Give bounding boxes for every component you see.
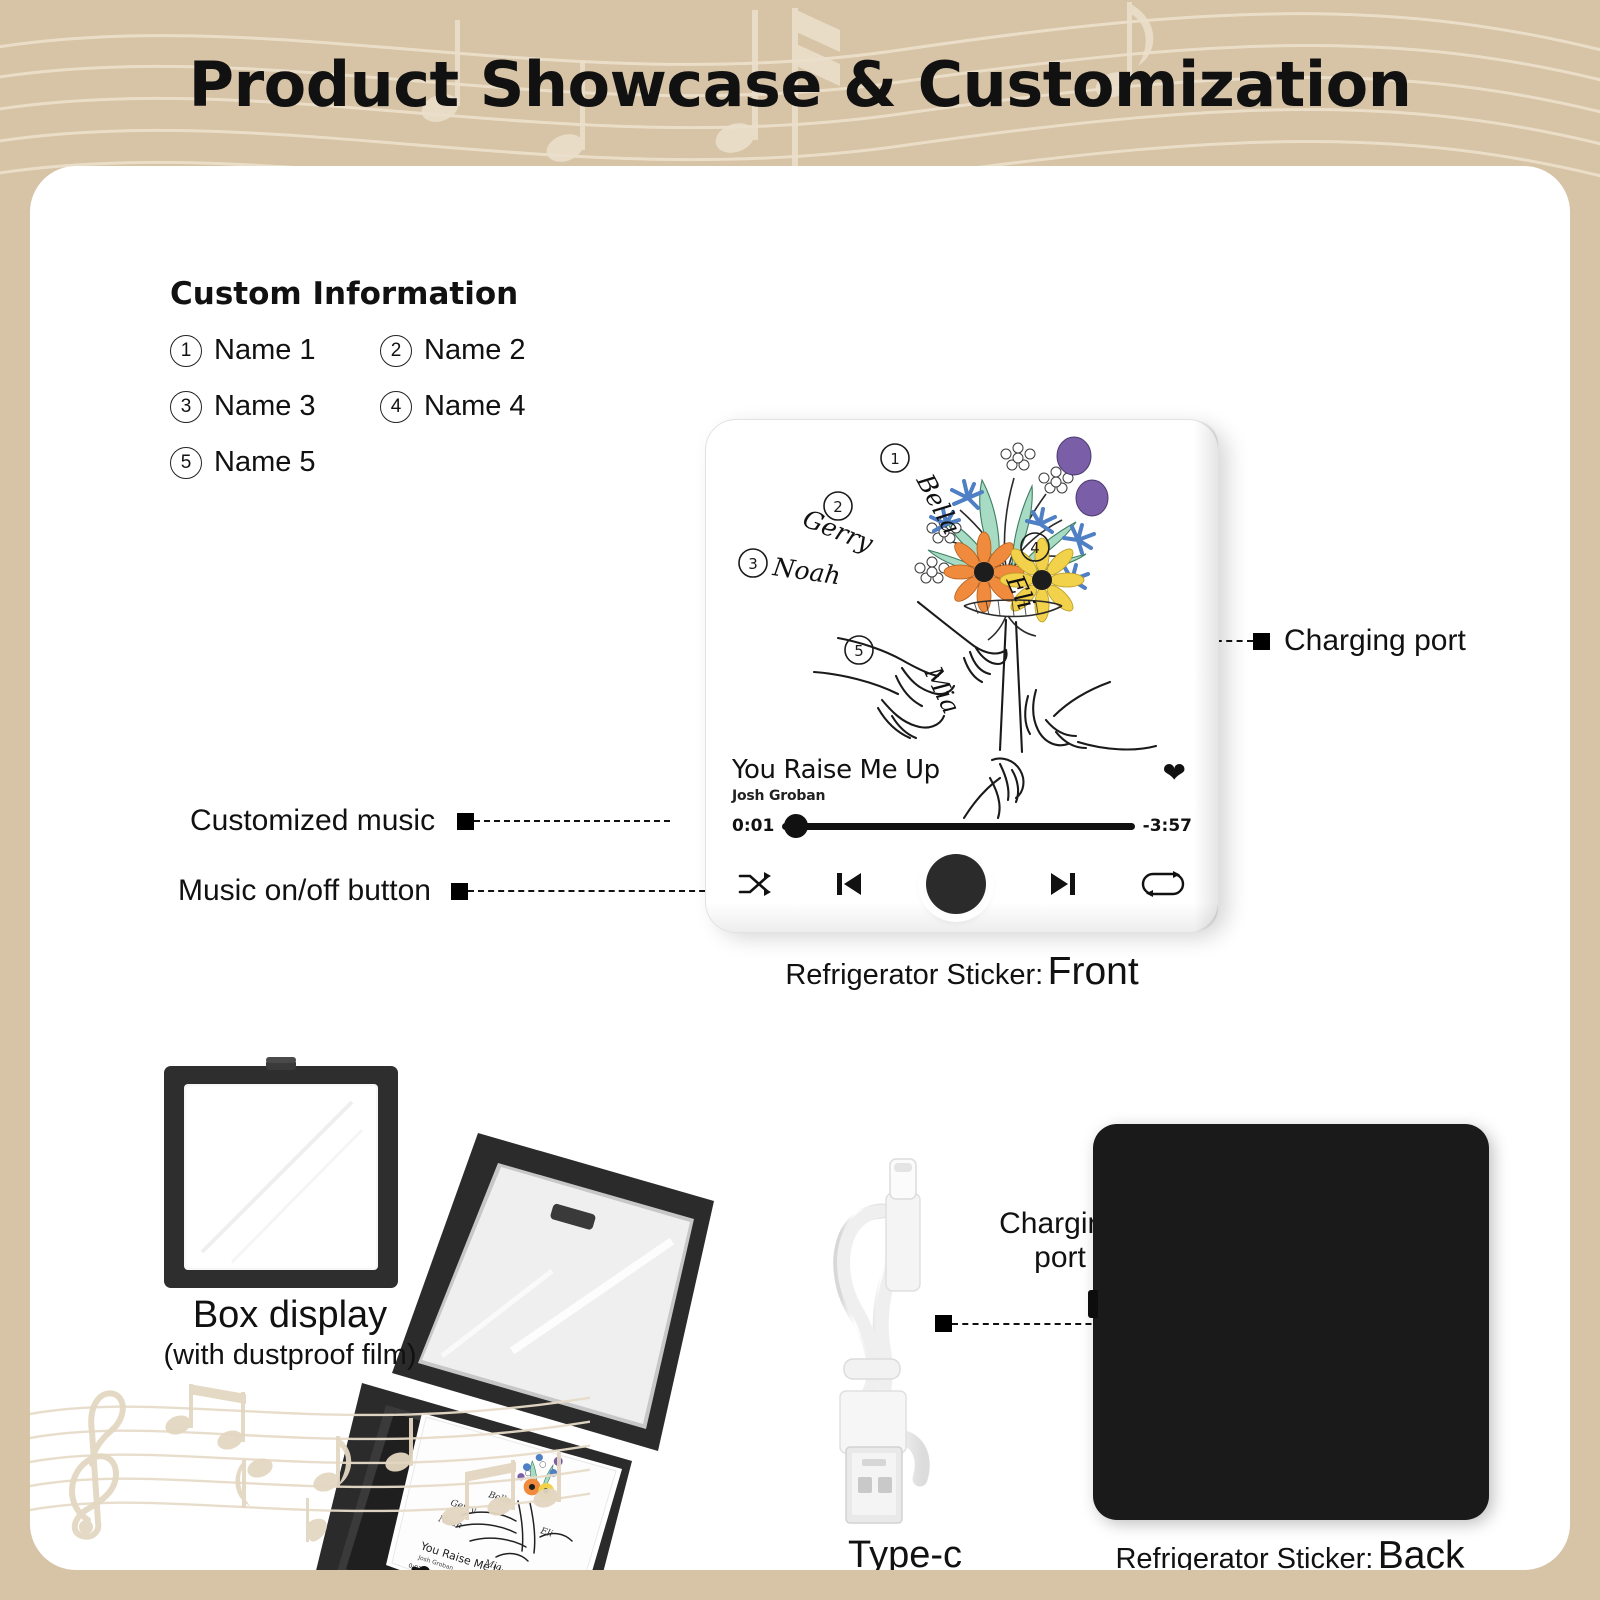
content-card: Custom Information 1 Name 1 2 Name 2 3 N… xyxy=(30,166,1570,1570)
number-badge-4: 4 xyxy=(380,391,412,423)
shuffle-icon[interactable] xyxy=(738,871,772,897)
svg-text:3: 3 xyxy=(748,555,758,573)
repeat-icon[interactable] xyxy=(1140,870,1186,898)
cable-caption: Type-c xyxy=(790,1534,1020,1570)
custom-name-label-3: Name 3 xyxy=(214,390,316,423)
charging-port-notch xyxy=(1088,1290,1098,1318)
custom-information-title: Custom Information xyxy=(170,276,590,312)
play-button[interactable] xyxy=(926,854,986,914)
svg-text:Noah: Noah xyxy=(770,552,842,590)
custom-name-item-3: 3 Name 3 xyxy=(170,390,380,423)
custom-name-label-4: Name 4 xyxy=(424,390,526,423)
progress-knob[interactable] xyxy=(784,814,808,838)
callout-music-on-off-label: Music on/off button xyxy=(178,874,431,908)
callout-charging-port-front: Charging port xyxy=(1195,624,1466,658)
custom-name-label-2: Name 2 xyxy=(424,334,526,367)
track-artist: Josh Groban xyxy=(732,788,1192,804)
callout-leader-group xyxy=(935,1315,1112,1332)
back-caption-side: Back xyxy=(1378,1534,1465,1570)
progress-slider[interactable] xyxy=(782,823,1134,830)
callout-customized-music: Customized music xyxy=(190,804,670,838)
custom-name-item-5: 5 Name 5 xyxy=(170,446,380,479)
number-badge-3: 3 xyxy=(170,391,202,423)
custom-information-block: Custom Information 1 Name 1 2 Name 2 3 N… xyxy=(170,276,590,479)
progress-row: 0:01 -3:57 xyxy=(732,816,1192,836)
page-title: Product Showcase & Customization xyxy=(0,48,1600,121)
refrigerator-sticker-front[interactable]: 1 2 3 4 5 Bella Gerry Noah Eli Mia You R… xyxy=(706,420,1218,932)
elapsed-time: 0:01 xyxy=(732,816,774,836)
callout-marker-square xyxy=(457,813,474,830)
custom-name-list: 1 Name 1 2 Name 2 3 Name 3 4 Name 4 5 Na… xyxy=(170,334,590,479)
callout-marker-square xyxy=(451,883,468,900)
number-badge-1: 1 xyxy=(170,335,202,367)
front-caption-side: Front xyxy=(1048,950,1139,993)
number-badge-5: 5 xyxy=(170,447,202,479)
custom-name-label-5: Name 5 xyxy=(214,446,316,479)
music-player: You Raise Me Up Josh Groban ❤ 0:01 -3:57 xyxy=(732,757,1192,914)
usb-type-c-cable xyxy=(810,1141,1000,1531)
previous-track-icon[interactable] xyxy=(835,871,863,897)
custom-name-item-4: 4 Name 4 xyxy=(380,390,590,423)
heart-icon[interactable]: ❤ xyxy=(1163,759,1186,787)
box-display-caption: Box display (with dustproof film) xyxy=(130,1294,450,1372)
front-caption-prefix: Refrigerator Sticker: xyxy=(785,959,1043,991)
custom-name-item-1: 1 Name 1 xyxy=(170,334,380,367)
callout-marker-square xyxy=(1253,633,1270,650)
callout-marker-square xyxy=(935,1315,952,1332)
callout-leader-line xyxy=(474,820,670,822)
back-caption-prefix: Refrigerator Sticker: xyxy=(1115,1543,1373,1570)
callout-customized-music-label: Customized music xyxy=(190,804,435,838)
box-display-caption-sub: (with dustproof film) xyxy=(130,1339,450,1372)
next-track-icon[interactable] xyxy=(1049,871,1077,897)
player-controls xyxy=(732,854,1192,914)
track-title: You Raise Me Up xyxy=(732,757,1192,783)
custom-name-label-1: Name 1 xyxy=(214,334,316,367)
back-caption: Refrigerator Sticker: Back xyxy=(1050,1534,1530,1570)
remaining-time: -3:57 xyxy=(1143,816,1192,836)
box-display-caption-main: Box display xyxy=(130,1294,450,1337)
refrigerator-sticker-back[interactable] xyxy=(1093,1124,1489,1520)
svg-text:4: 4 xyxy=(1030,539,1040,557)
custom-name-item-2: 2 Name 2 xyxy=(380,334,590,367)
svg-text:5: 5 xyxy=(854,642,864,660)
number-badge-2: 2 xyxy=(380,335,412,367)
svg-text:1: 1 xyxy=(890,450,900,468)
front-caption: Refrigerator Sticker: Front xyxy=(706,950,1218,994)
callout-leader-line xyxy=(952,1323,1112,1325)
callout-charging-port-label: Charging port xyxy=(1284,624,1466,658)
